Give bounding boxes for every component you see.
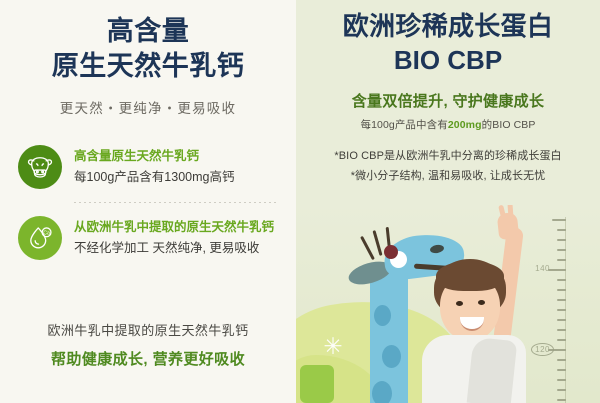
calcium-drop-icon: Ca (18, 216, 62, 260)
left-header: 高含量 原生天然牛乳钙 更天然・更纯净・更易吸收 (0, 0, 296, 117)
left-footer: 欧洲牛乳中提取的原生天然牛乳钙 帮助健康成长, 营养更好吸收 (0, 320, 296, 369)
feature-item-european-source: Ca 从欧洲牛乳中提取的原生天然牛乳钙 不经化学加工 天然纯净, 更易吸收 (18, 210, 282, 266)
ruler-tick (557, 259, 566, 261)
ruler-tick (557, 309, 566, 311)
ruler-tick (557, 399, 566, 401)
ruler-tick (557, 279, 566, 281)
feature-title: 高含量原生天然牛乳钙 (74, 148, 282, 165)
cow-icon (18, 145, 62, 189)
feature-description: 每100g产品含有1300mg高钙 (74, 168, 282, 186)
giraffe-horn (372, 230, 382, 256)
right-subtitle: 含量双倍提升, 守护健康成长 (296, 90, 600, 111)
child-hair-fringe (436, 261, 504, 291)
ruler-tick (557, 239, 566, 241)
giraffe-cheek (384, 245, 398, 259)
note-bio-cbp-definition: *BIO CBP是从欧洲牛乳中分离的珍稀成长蛋白 (296, 146, 600, 167)
product-infographic: 高含量 原生天然牛乳钙 更天然・更纯净・更易吸收 (0, 0, 600, 403)
giraffe-horn (360, 236, 375, 260)
detail-prefix: 每100g产品中含有 (360, 119, 447, 131)
child-eye (478, 300, 485, 305)
left-footer-line1: 欧洲牛乳中提取的原生天然牛乳钙 (0, 320, 296, 339)
svg-text:Ca: Ca (43, 231, 50, 237)
feature-description: 不经化学加工 天然纯净, 更易吸收 (74, 239, 282, 257)
feature-list: 高含量原生天然牛乳钙 每100g产品含有1300mg高钙 Ca 从欧洲牛乳中提取… (0, 139, 296, 266)
ruler-number: 140 (535, 264, 550, 273)
left-heading-line1: 高含量 (0, 14, 296, 49)
ruler-tick (557, 329, 566, 331)
left-panel: 高含量 原生天然牛乳钙 更天然・更纯净・更易吸收 (0, 0, 296, 403)
feature-divider (74, 202, 278, 203)
height-ruler: 140 120 100 (524, 205, 584, 403)
left-footer-line2: 帮助健康成长, 营养更好吸收 (0, 348, 296, 369)
ruler-tick (557, 379, 566, 381)
giraffe-spot (372, 381, 392, 403)
ruler-tick (557, 229, 566, 231)
ruler-tick (557, 369, 566, 371)
note-list: *BIO CBP是从欧洲牛乳中分离的珍稀成长蛋白 *微小分子结构, 温和易吸收,… (296, 146, 600, 188)
feature-item-calcium-content: 高含量原生天然牛乳钙 每100g产品含有1300mg高钙 (18, 139, 282, 195)
ruler-number: 120 (531, 343, 554, 356)
right-heading-line1: 欧洲珍稀成长蛋白 (296, 10, 600, 44)
right-subtitle-detail: 每100g产品中含有200mg的BIO CBP (296, 117, 600, 132)
ruler-tick (557, 389, 566, 391)
detail-suffix: 的BIO CBP (482, 119, 536, 131)
ruler-tick (557, 319, 566, 321)
ruler-tick (557, 249, 566, 251)
right-heading-line2: BIO CBP (296, 44, 600, 78)
left-subtitle: 更天然・更纯净・更易吸收 (0, 97, 296, 117)
detail-highlight: 200mg (448, 119, 482, 131)
giraffe-spot (382, 345, 401, 368)
child-height-chart-photo: ✳ (296, 205, 600, 403)
note-molecular-structure: *微小分子结构, 温和易吸收, 让成长无忧 (296, 166, 600, 187)
giraffe-spot (374, 305, 391, 326)
ruler-tick (557, 289, 566, 291)
wall-decor-block (300, 365, 334, 403)
right-header: 欧洲珍稀成长蛋白 BIO CBP 含量双倍提升, 守护健康成长 每100g产品中… (296, 0, 600, 132)
ruler-tick (552, 219, 566, 221)
child-eye (456, 301, 463, 306)
feature-text: 从欧洲牛乳中提取的原生天然牛乳钙 不经化学加工 天然纯净, 更易吸收 (74, 219, 282, 257)
ruler-tick (557, 299, 566, 301)
child-shirt-fold (467, 337, 518, 403)
ruler-tick-major (548, 269, 566, 271)
ruler-tick (557, 339, 566, 341)
right-panel: 欧洲珍稀成长蛋白 BIO CBP 含量双倍提升, 守护健康成长 每100g产品中… (296, 0, 600, 403)
feature-title: 从欧洲牛乳中提取的原生天然牛乳钙 (74, 219, 282, 236)
feature-text: 高含量原生天然牛乳钙 每100g产品含有1300mg高钙 (74, 148, 282, 186)
left-heading-line2: 原生天然牛乳钙 (0, 49, 296, 84)
ruler-tick (557, 359, 566, 361)
